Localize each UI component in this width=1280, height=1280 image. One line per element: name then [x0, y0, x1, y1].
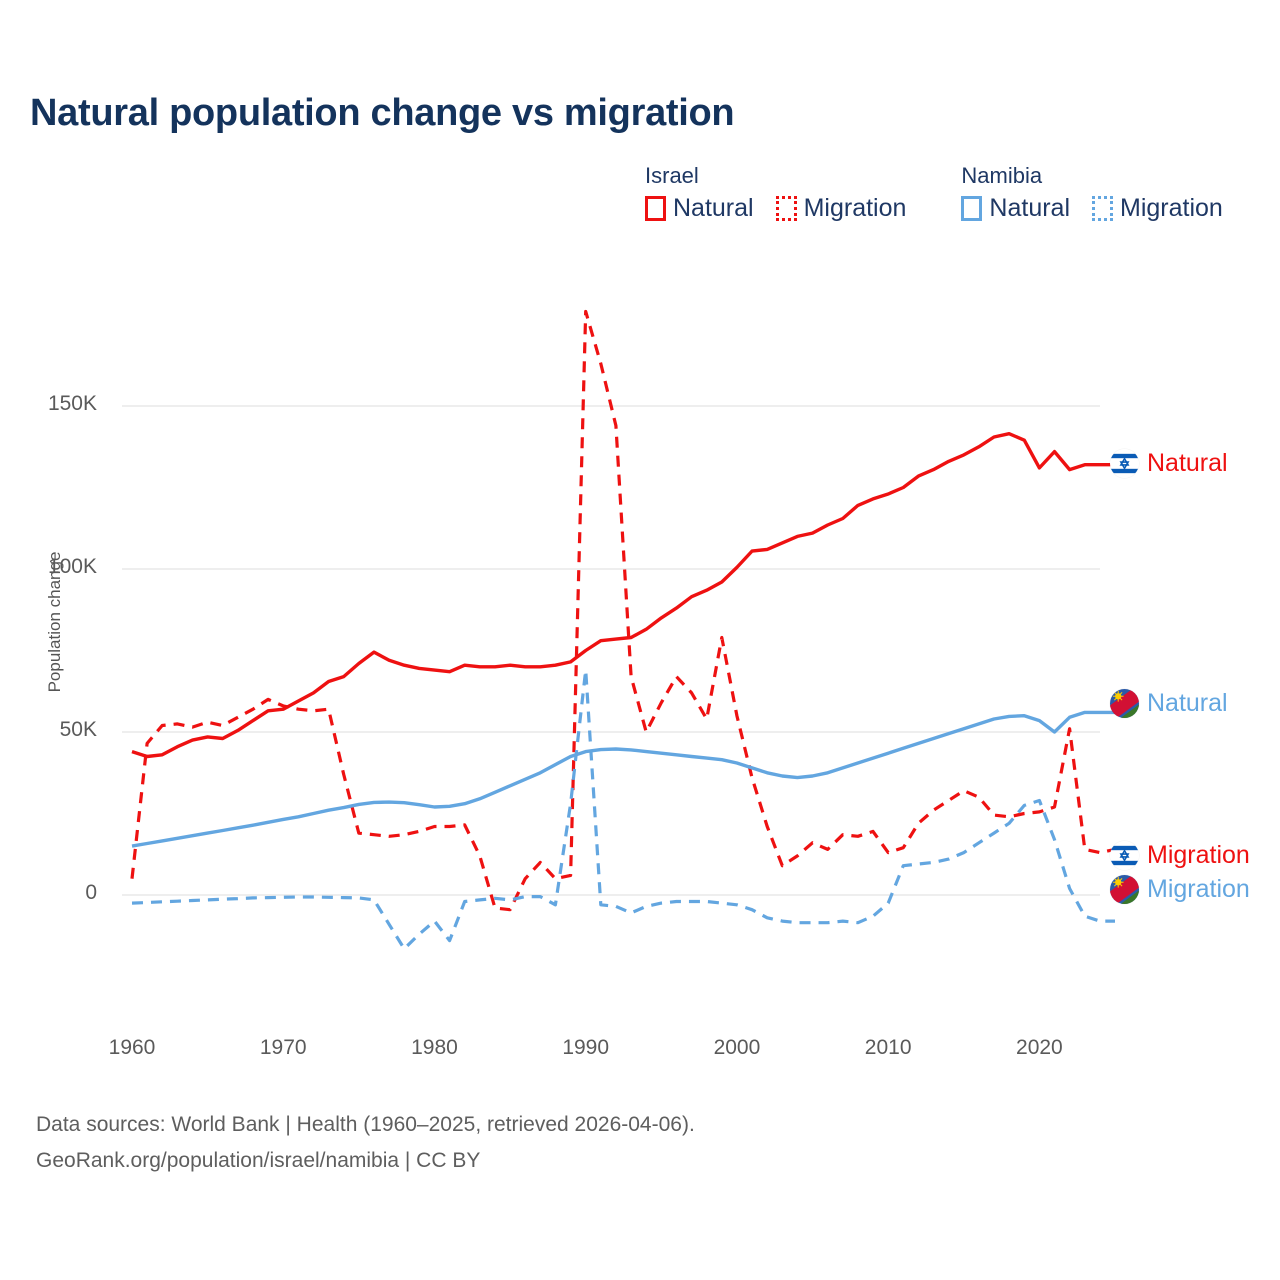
x-tick-label: 1980 — [394, 1036, 474, 1060]
y-tick-label: 100K — [17, 555, 97, 579]
x-tick-label: 1960 — [92, 1036, 172, 1060]
end-label-text: Migration — [1147, 843, 1250, 868]
chart-root: Natural population change vs migration I… — [0, 0, 1280, 1280]
end-label-israel-migration[interactable]: Migration — [1110, 841, 1250, 870]
series-line-namibia-migration — [132, 670, 1115, 949]
israel-flag-icon — [1110, 841, 1139, 870]
footer-data-sources: Data sources: World Bank | Health (1960–… — [36, 1107, 695, 1143]
x-tick-label: 1970 — [243, 1036, 323, 1060]
end-label-namibia-natural[interactable]: Natural — [1110, 689, 1228, 718]
series-line-israel-natural — [132, 434, 1115, 757]
plot-svg — [0, 0, 1280, 1280]
israel-flag-icon — [1110, 449, 1139, 478]
x-tick-label: 2010 — [848, 1036, 928, 1060]
x-tick-label: 2020 — [999, 1036, 1079, 1060]
end-label-text: Natural — [1147, 451, 1228, 476]
namibia-flag-icon — [1110, 875, 1139, 904]
y-tick-label: 50K — [17, 718, 97, 742]
namibia-flag-icon — [1110, 689, 1139, 718]
footer-attribution: GeoRank.org/population/israel/namibia | … — [36, 1143, 695, 1179]
footer: Data sources: World Bank | Health (1960–… — [36, 1107, 695, 1179]
end-label-text: Migration — [1147, 877, 1250, 902]
y-tick-label: 0 — [17, 881, 97, 905]
end-label-text: Natural — [1147, 691, 1228, 716]
series-lines — [132, 312, 1115, 949]
end-label-namibia-migration[interactable]: Migration — [1110, 875, 1250, 904]
y-tick-label: 150K — [17, 392, 97, 416]
x-tick-label: 1990 — [546, 1036, 626, 1060]
end-label-israel-natural[interactable]: Natural — [1110, 449, 1228, 478]
plot-area: Population change 050K100K150K 196019701… — [0, 0, 1280, 1280]
x-tick-label: 2000 — [697, 1036, 777, 1060]
